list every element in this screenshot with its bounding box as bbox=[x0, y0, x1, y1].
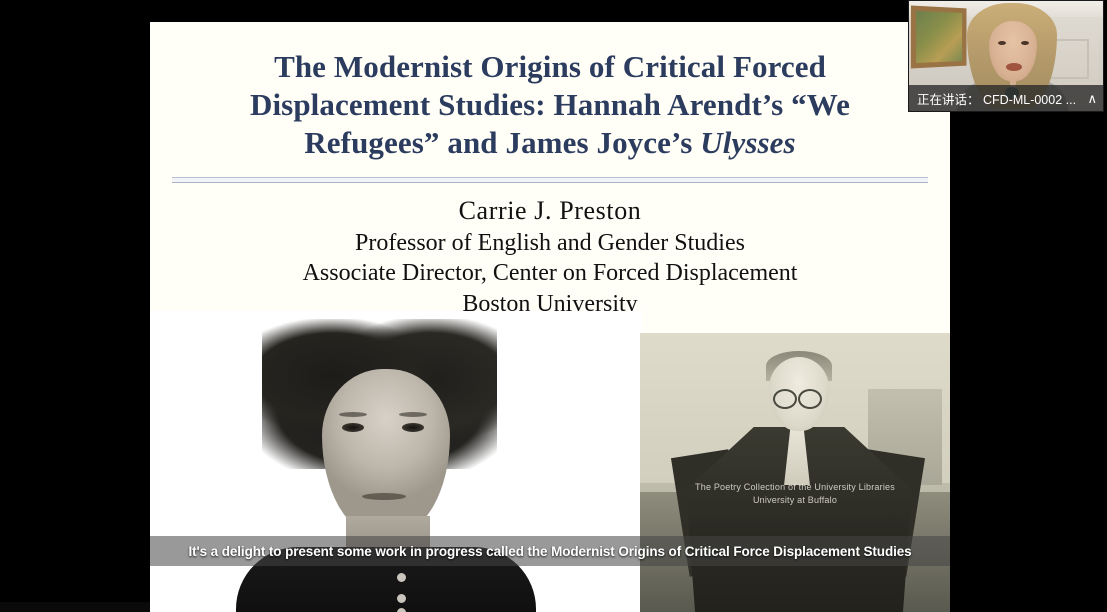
screen-share-stage: The Modernist Origins of Critical Forced… bbox=[0, 0, 1107, 612]
arendt-eye-right bbox=[402, 423, 424, 432]
speaker-face-shape bbox=[989, 21, 1037, 81]
presenter-name: Carrie J. Preston bbox=[170, 195, 930, 228]
live-caption-bar: It's a delight to present some work in p… bbox=[150, 536, 950, 566]
joyce-eyeglass-left bbox=[773, 389, 797, 409]
james-joyce-portrait-image: The Poetry Collection of the University … bbox=[640, 333, 950, 612]
slide-title-line-2: Displacement Studies: Hannah Arendt’s “W… bbox=[250, 87, 850, 122]
slide-title-line-3: Refugees” and James Joyce’s bbox=[304, 125, 700, 160]
arendt-mouth bbox=[362, 493, 406, 500]
arendt-button-middle bbox=[397, 594, 406, 603]
speaker-eye-left bbox=[998, 41, 1006, 45]
slide-byline: Carrie J. Preston Professor of English a… bbox=[150, 183, 950, 318]
slide-title: The Modernist Origins of Critical Forced… bbox=[150, 22, 950, 161]
bottom-toolbar-sliver[interactable] bbox=[0, 602, 150, 612]
hannah-arendt-portrait-image bbox=[150, 311, 642, 612]
slide-photo-row: The Poetry Collection of the University … bbox=[150, 311, 950, 612]
speaker-eye-right bbox=[1021, 41, 1029, 45]
active-speaker-label-bar[interactable]: 正在讲话： CFD-ML-0002 ... ∧ bbox=[909, 85, 1104, 111]
arendt-button-top bbox=[397, 573, 406, 582]
video-background-framed-picture bbox=[911, 6, 967, 69]
speaker-video-thumbnail[interactable]: 正在讲话： CFD-ML-0002 ... ∧ bbox=[908, 0, 1104, 112]
arendt-brow-left bbox=[339, 412, 367, 417]
chevron-up-icon[interactable]: ∧ bbox=[1083, 92, 1097, 105]
live-caption-text: It's a delight to present some work in p… bbox=[188, 544, 911, 559]
joyce-photo-credit-watermark: The Poetry Collection of the University … bbox=[640, 481, 950, 507]
speaker-mouth bbox=[1006, 63, 1022, 71]
arendt-face-shape bbox=[322, 369, 450, 535]
slide-title-line-1: The Modernist Origins of Critical Forced bbox=[274, 49, 826, 84]
active-speaker-name: 正在讲话： CFD-ML-0002 ... bbox=[917, 89, 1083, 108]
slide-title-italic-work: Ulysses bbox=[700, 125, 795, 160]
arendt-brow-right bbox=[399, 412, 427, 417]
presenter-affiliation-role: Associate Director, Center on Forced Dis… bbox=[170, 258, 930, 288]
presentation-slide[interactable]: The Modernist Origins of Critical Forced… bbox=[150, 22, 950, 612]
joyce-eyeglass-right bbox=[798, 389, 822, 409]
presenter-role: Professor of English and Gender Studies bbox=[170, 228, 930, 258]
arendt-button-bottom bbox=[397, 608, 406, 612]
arendt-eye-left bbox=[342, 423, 364, 432]
